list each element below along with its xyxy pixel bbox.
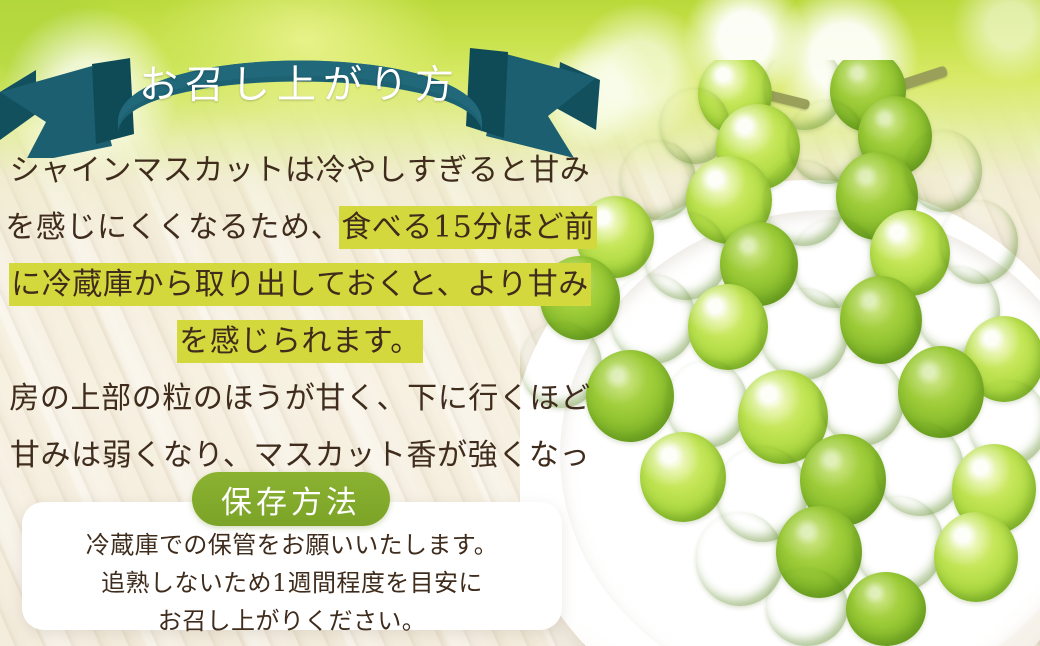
- grape: [934, 512, 1018, 602]
- banner-right-fold: [466, 48, 508, 138]
- banner-main-band-top: [118, 61, 482, 131]
- plain-text: を感じにくくなるため、: [5, 210, 341, 245]
- instruction-line: に冷蔵庫から取り出しておくと、より甘み: [0, 256, 600, 313]
- storage-line: 冷蔵庫での保管をお願いいたします。: [22, 526, 562, 564]
- plain-text: 甘みは弱くなり、マスカット香が強くなっ: [10, 438, 590, 473]
- plain-text: 房の上部の粒のほうが甘く、下に行くほど: [9, 381, 590, 416]
- grape: [840, 276, 922, 364]
- section-banner: お召し上がり方: [0, 18, 600, 158]
- plain-text: シャインマスカットは冷やしすぎると甘み: [10, 153, 591, 188]
- instruction-line: 房の上部の粒のほうが甘く、下に行くほど: [0, 370, 600, 427]
- storage-badge: 保存方法: [192, 472, 390, 526]
- grape: [766, 568, 848, 646]
- highlighted-text: を感じられます。: [179, 322, 421, 361]
- grape: [906, 130, 982, 212]
- product-info-panel: お召し上がり方 シャインマスカットは冷やしすぎると甘みを感じにくくなるため、食べ…: [0, 0, 1040, 646]
- grape: [640, 432, 726, 522]
- banner-ribbon-shape: [0, 18, 600, 158]
- grape: [688, 284, 768, 370]
- storage-instructions: 冷蔵庫での保管をお願いいたします。追熟しないため1週間程度を目安にお召し上がりく…: [22, 526, 562, 640]
- highlighted-text: 食べる15分ほど前: [341, 208, 595, 247]
- instruction-line: シャインマスカットは冷やしすぎると甘み: [0, 142, 600, 199]
- storage-line: 追熟しないため1週間程度を目安に: [22, 564, 562, 602]
- storage-line: お召し上がりください。: [22, 602, 562, 640]
- grape: [846, 572, 926, 646]
- instruction-line: を感じにくくなるため、食べる15分ほど前: [0, 199, 600, 256]
- highlighted-text: に冷蔵庫から取り出しておくと、より甘み: [11, 265, 589, 304]
- instruction-line: を感じられます。: [0, 313, 600, 370]
